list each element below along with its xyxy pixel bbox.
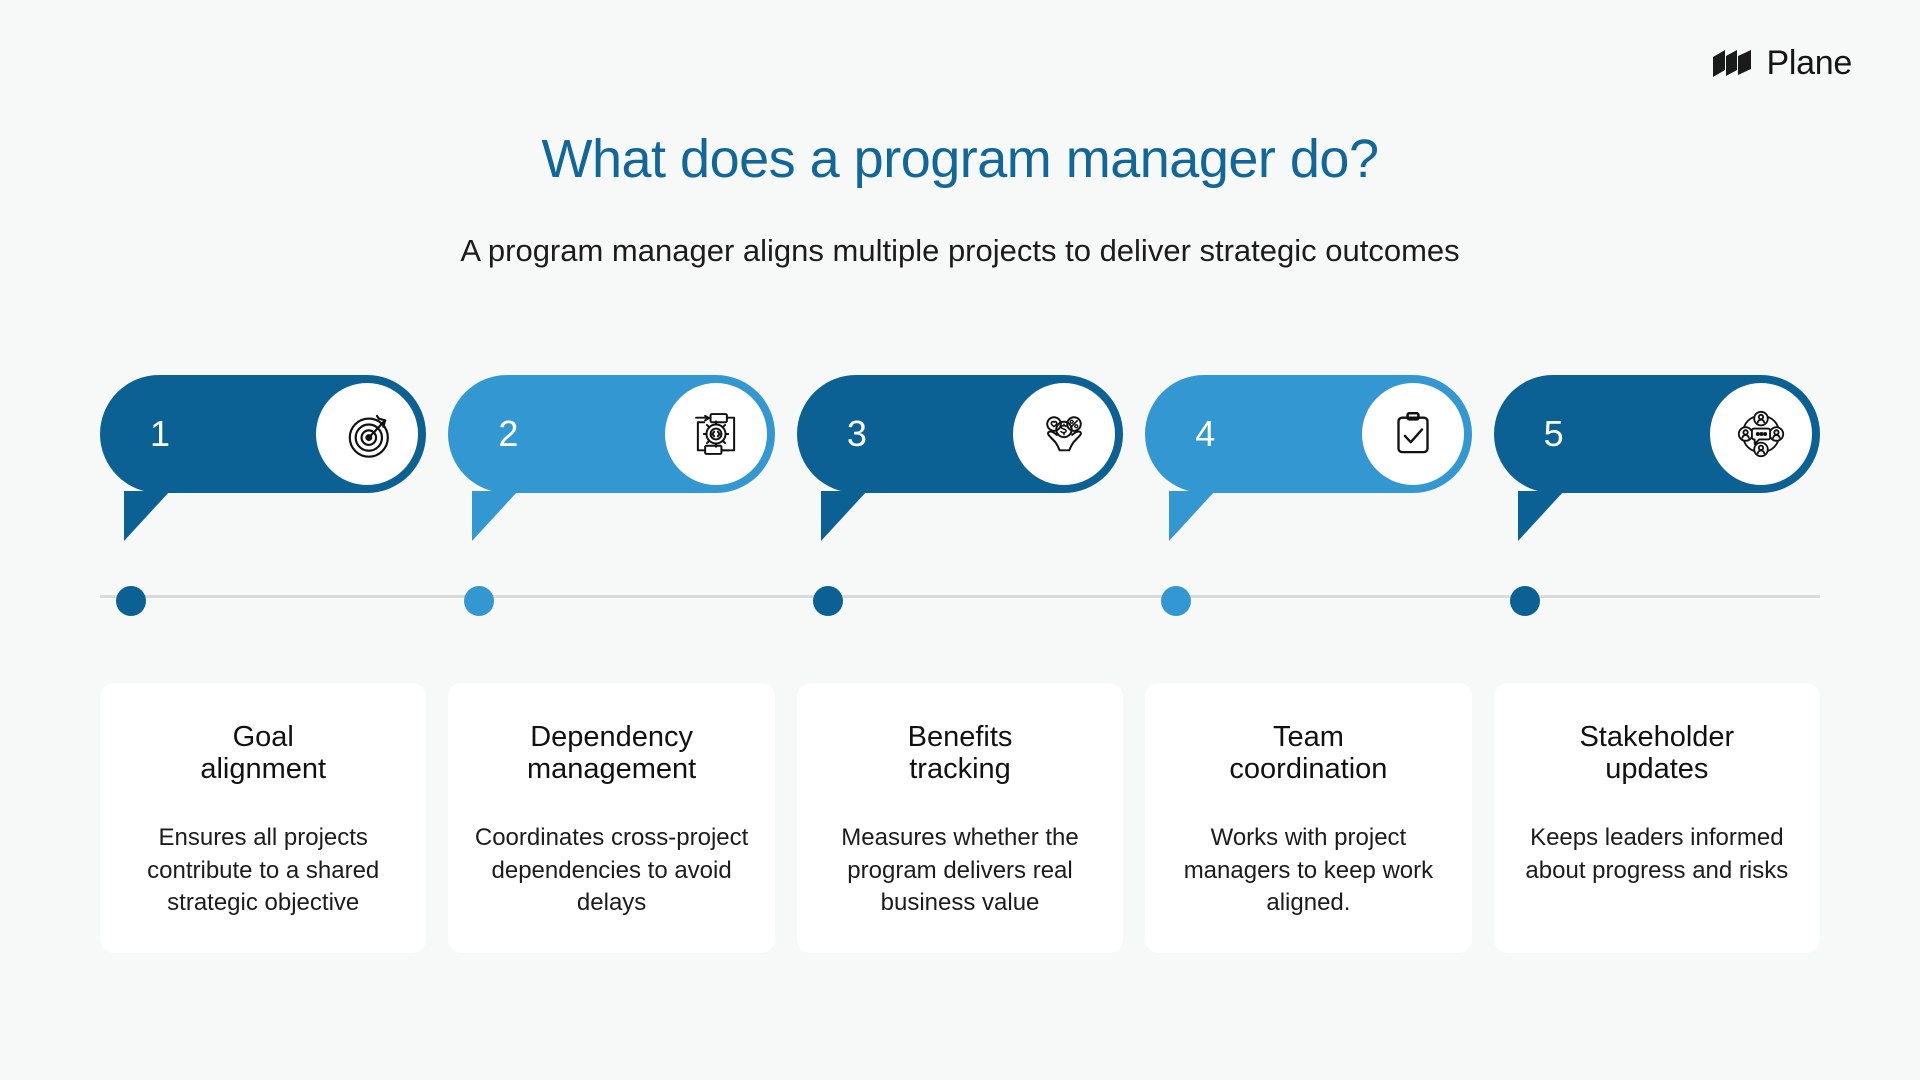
step-2-card-body: Coordinates cross-project dependencies t… (466, 822, 756, 920)
brand-logo: Plane (1711, 46, 1852, 80)
step-1-pill: 1 (100, 375, 426, 493)
heading-block: What does a program manager do? A progra… (0, 128, 1920, 269)
clipboard-check-icon (1384, 405, 1442, 463)
step-5-timeline-dot (1510, 586, 1540, 616)
step-2-pill: 2 (448, 375, 774, 493)
step-1-icon-circle (316, 383, 418, 485)
step-5-card-body: Keeps leaders informed about progress an… (1512, 822, 1802, 887)
step-5-badge: 5 (1494, 375, 1820, 555)
step-4[interactable]: 4 Team coordination Works with project m… (1145, 375, 1471, 953)
step-5-number: 5 (1544, 416, 1564, 452)
step-5-icon-circle (1710, 383, 1812, 485)
step-3-pill-tail (821, 491, 867, 541)
step-4-number: 4 (1195, 416, 1215, 452)
brand-name: Plane (1767, 46, 1852, 80)
page-title: What does a program manager do? (0, 128, 1920, 190)
step-1-number: 1 (150, 416, 170, 452)
step-3-number: 3 (847, 416, 867, 452)
step-2-card-title: Dependency management (466, 721, 756, 786)
step-4-card: Team coordination Works with project man… (1145, 683, 1471, 953)
step-4-pill-tail (1169, 491, 1215, 541)
step-3-timeline-dot (813, 586, 843, 616)
steps-row: 1 Goal alignment Ensures a (100, 375, 1820, 953)
step-1[interactable]: 1 Goal alignment Ensures a (100, 375, 426, 953)
step-2-icon-circle (665, 383, 767, 485)
step-3[interactable]: 3 (797, 375, 1123, 953)
step-2-pill-tail (472, 491, 518, 541)
step-2-card: Dependency management Coordinates cross-… (448, 683, 774, 953)
target-bullseye-arrow-icon (338, 405, 396, 463)
step-4-badge: 4 (1145, 375, 1471, 555)
step-4-card-body: Works with project managers to keep work… (1163, 822, 1453, 920)
step-5-card-title: Stakeholder updates (1512, 721, 1802, 786)
step-1-card: Goal alignment Ensures all projects cont… (100, 683, 426, 953)
step-3-card-body: Measures whether the program delivers re… (815, 822, 1105, 920)
step-5-pill: 5 (1494, 375, 1820, 493)
step-5-pill-tail (1518, 491, 1564, 541)
step-3-pill: 3 (797, 375, 1123, 493)
step-5-card: Stakeholder updates Keeps leaders inform… (1494, 683, 1820, 953)
step-3-card: Benefits tracking Measures whether the p… (797, 683, 1123, 953)
step-3-badge: 3 (797, 375, 1123, 555)
step-4-pill: 4 (1145, 375, 1471, 493)
step-1-pill-tail (124, 491, 170, 541)
step-2-badge: 2 (448, 375, 774, 555)
gear-workflow-icon (687, 405, 745, 463)
hands-holding-coins-icon (1035, 405, 1093, 463)
page-subtitle: A program manager aligns multiple projec… (0, 232, 1920, 269)
step-4-icon-circle (1362, 383, 1464, 485)
step-1-timeline-dot (116, 586, 146, 616)
step-3-card-title: Benefits tracking (815, 721, 1105, 786)
step-3-icon-circle (1013, 383, 1115, 485)
step-2[interactable]: 2 (448, 375, 774, 953)
plane-logo-icon (1711, 48, 1755, 78)
stakeholder-network-chat-icon (1732, 405, 1790, 463)
step-4-card-title: Team coordination (1163, 721, 1453, 786)
step-5[interactable]: 5 (1494, 375, 1820, 953)
step-1-card-title: Goal alignment (118, 721, 408, 786)
step-1-card-body: Ensures all projects contribute to a sha… (118, 822, 408, 920)
step-4-timeline-dot (1161, 586, 1191, 616)
step-2-timeline-dot (464, 586, 494, 616)
step-1-badge: 1 (100, 375, 426, 555)
step-2-number: 2 (498, 416, 518, 452)
